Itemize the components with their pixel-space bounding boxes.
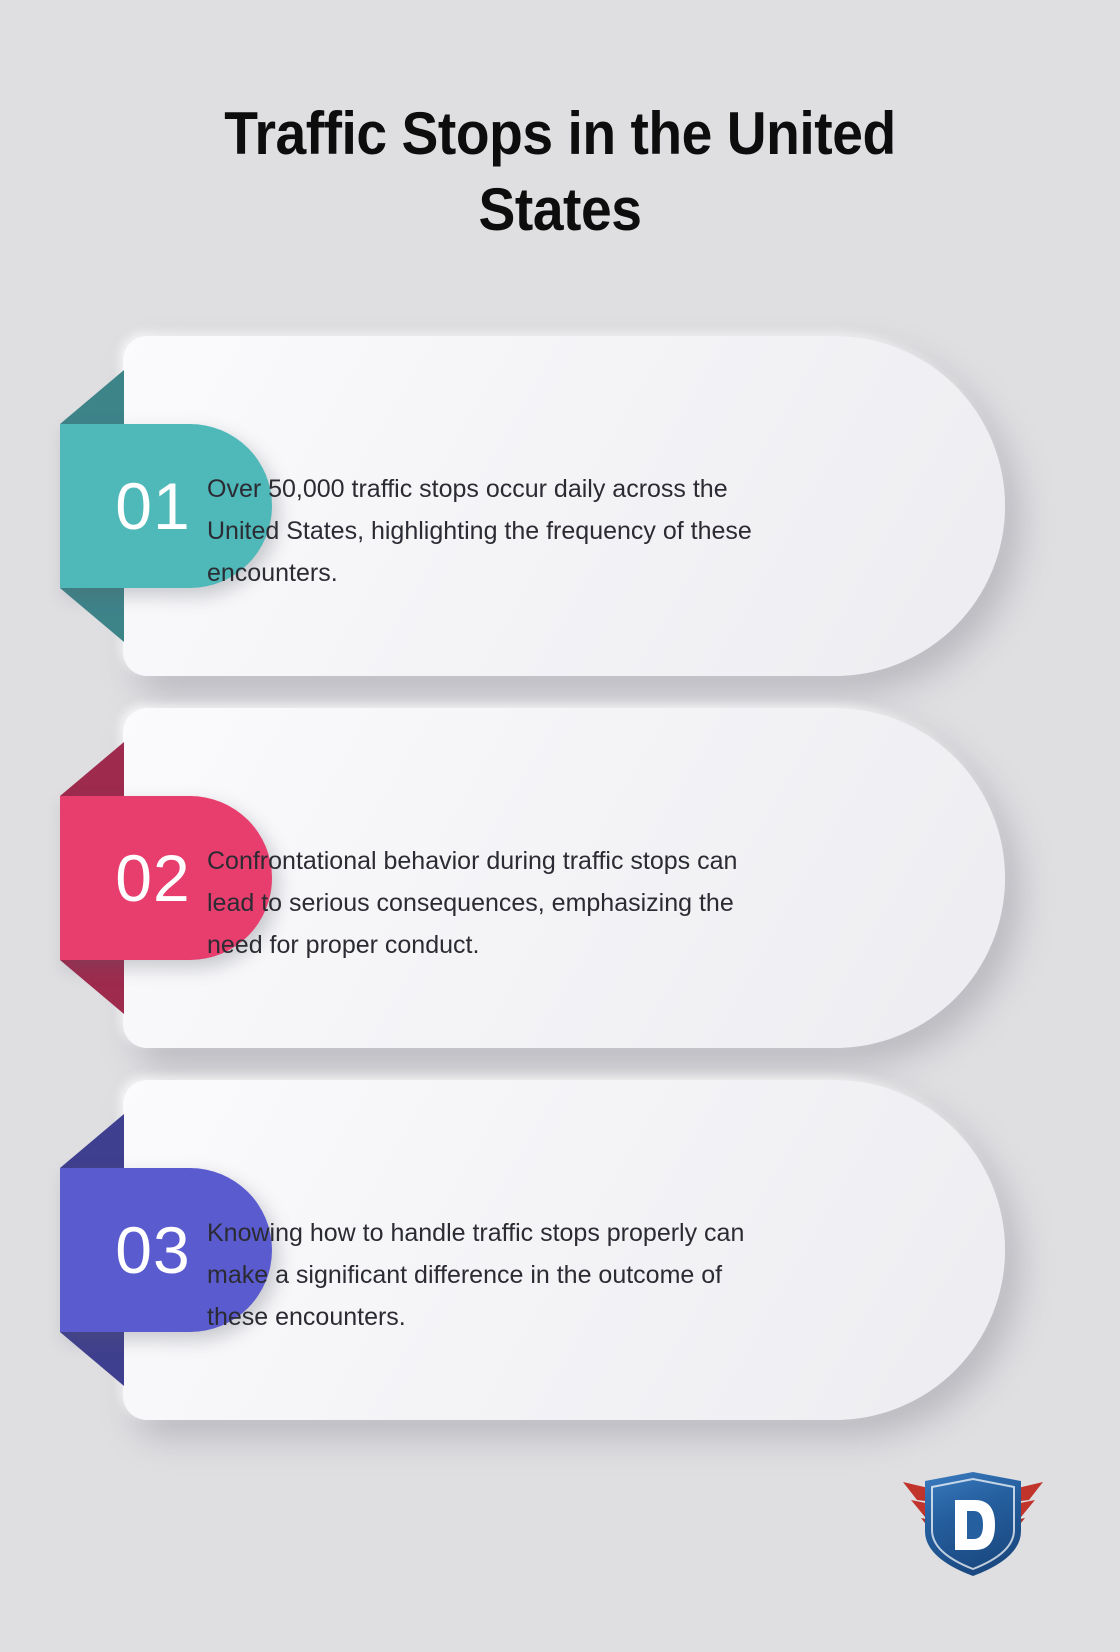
card-description: Over 50,000 traffic stops occur daily ac… bbox=[207, 468, 777, 594]
title-section: Traffic Stops in the United States bbox=[0, 96, 1120, 248]
fold-shape bbox=[60, 1114, 124, 1168]
ribbon-fold-bottom-icon bbox=[60, 960, 124, 1014]
step-number: 02 bbox=[115, 845, 216, 911]
logo-letter-d bbox=[955, 1500, 995, 1550]
ribbon-fold-top-icon bbox=[60, 1114, 124, 1168]
list-item[interactable]: 03 Knowing how to handle traffic stops p… bbox=[0, 1080, 1120, 1420]
fold-shape bbox=[60, 370, 124, 424]
ribbon-fold-bottom-icon bbox=[60, 1332, 124, 1386]
step-number: 03 bbox=[115, 1217, 216, 1283]
fold-shape bbox=[60, 960, 124, 1014]
fold-shape bbox=[60, 742, 124, 796]
page-title: Traffic Stops in the United States bbox=[183, 96, 937, 248]
card-description: Confrontational behavior during traffic … bbox=[207, 840, 777, 966]
card-description: Knowing how to handle traffic stops prop… bbox=[207, 1212, 777, 1338]
ribbon-fold-top-icon bbox=[60, 742, 124, 796]
list-item[interactable]: 02 Confrontational behavior during traff… bbox=[0, 708, 1120, 1048]
ribbon-fold-top-icon bbox=[60, 370, 124, 424]
step-number: 01 bbox=[115, 473, 216, 539]
fold-shape bbox=[60, 1332, 124, 1386]
numbered-card-list: 01 Over 50,000 traffic stops occur daily… bbox=[0, 336, 1120, 1420]
winged-shield-d-logo bbox=[893, 1448, 1053, 1583]
list-item[interactable]: 01 Over 50,000 traffic stops occur daily… bbox=[0, 336, 1120, 676]
ribbon-fold-bottom-icon bbox=[60, 588, 124, 642]
fold-shape bbox=[60, 588, 124, 642]
